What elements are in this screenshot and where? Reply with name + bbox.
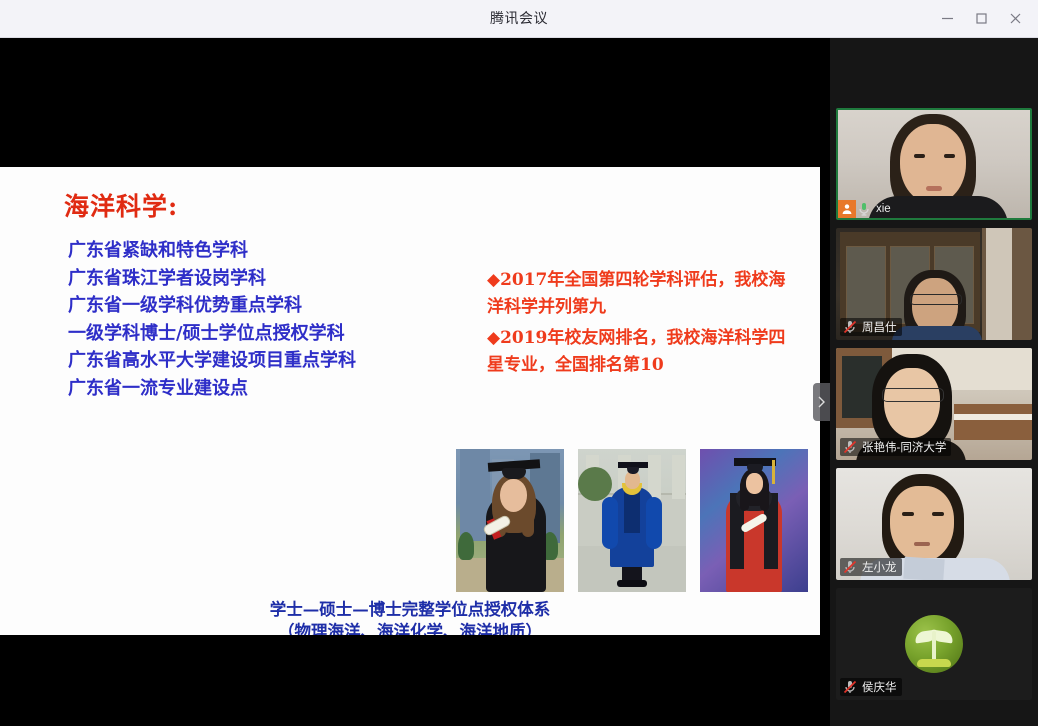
list-item: 广东省珠江学者设岗学科 — [68, 265, 438, 293]
participant-tile-zhouchangshi[interactable]: 周昌仕 — [836, 228, 1032, 340]
photo-caption: 学士—硕士—博士完整学位点授权体系 （物理海洋、海洋化学、海洋地质） — [0, 599, 820, 635]
mic-off-icon — [842, 439, 858, 455]
mic-off-icon — [842, 319, 858, 335]
graduation-photo-bachelor — [456, 449, 564, 592]
participant-name: 周昌仕 — [862, 319, 897, 335]
mic-off-icon — [842, 679, 858, 695]
graduation-photos — [456, 449, 808, 592]
participant-name: 张艳伟-同济大学 — [862, 439, 946, 455]
photo-caption-line-2: （物理海洋、海洋化学、海洋地质） — [0, 621, 820, 635]
minimize-icon[interactable] — [930, 0, 964, 37]
list-item: 广东省高水平大学建设项目重点学科 — [68, 347, 438, 375]
participant-tile-xie[interactable]: xie — [836, 108, 1032, 220]
participant-name: xie — [876, 203, 891, 215]
participant-label: xie — [838, 200, 896, 218]
person-icon — [838, 200, 856, 218]
meeting-window: 腾讯会议 海洋科学: 广东省紧缺和特色学科 广东省珠江学者设岗学科 广东省一级学… — [0, 0, 1038, 726]
participant-label: 周昌仕 — [840, 318, 902, 336]
window-controls — [930, 0, 1032, 37]
list-item: 广东省紧缺和特色学科 — [68, 237, 438, 265]
close-icon[interactable] — [998, 0, 1032, 37]
participant-tile-zuoxiaolong[interactable]: 左小龙 — [836, 468, 1032, 580]
participant-label: 侯庆华 — [840, 678, 902, 696]
participant-tile-zhangyanwei[interactable]: 张艳伟-同济大学 — [836, 348, 1032, 460]
participant-name: 侯庆华 — [862, 679, 897, 695]
participant-tile-houqinghua[interactable]: 侯庆华 — [836, 588, 1032, 700]
graduation-photo-doctor — [700, 449, 808, 592]
chevron-right-icon[interactable] — [813, 383, 830, 421]
slide-heading: 海洋科学: — [64, 187, 178, 223]
shared-screen-stage[interactable]: 海洋科学: 广东省紧缺和特色学科 广东省珠江学者设岗学科 广东省一级学科优势重点… — [0, 38, 830, 726]
app-title: 腾讯会议 — [0, 0, 1038, 37]
mic-off-icon — [842, 559, 858, 575]
highlight-note: ◆2019年校友网排名，我校海洋科学四星专业，全国排名第10 — [487, 325, 787, 379]
slide-bullet-list: 广东省紧缺和特色学科 广东省珠江学者设岗学科 广东省一级学科优势重点学科 一级学… — [68, 237, 438, 402]
highlight-note: ◆2017年全国第四轮学科评估，我校海洋科学并列第九 — [487, 267, 787, 321]
sprout-avatar — [905, 615, 963, 673]
participant-label: 张艳伟-同济大学 — [840, 438, 951, 456]
list-item: 广东省一流专业建设点 — [68, 375, 438, 403]
slide-highlight-notes: ◆2017年全国第四轮学科评估，我校海洋科学并列第九 ◆2019年校友网排名，我… — [487, 267, 787, 383]
presentation-slide: 海洋科学: 广东省紧缺和特色学科 广东省珠江学者设岗学科 广东省一级学科优势重点… — [0, 167, 820, 635]
graduation-photo-master — [578, 449, 686, 592]
participant-sidebar[interactable]: xie 周昌仕 — [830, 38, 1038, 726]
maximize-icon[interactable] — [964, 0, 998, 37]
photo-caption-line-1: 学士—硕士—博士完整学位点授权体系 — [270, 600, 551, 619]
list-item: 广东省一级学科优势重点学科 — [68, 292, 438, 320]
participant-label: 左小龙 — [840, 558, 902, 576]
list-item: 一级学科博士/硕士学位点授权学科 — [68, 320, 438, 348]
mic-on-icon — [856, 201, 872, 217]
participant-name: 左小龙 — [862, 559, 897, 575]
title-bar: 腾讯会议 — [0, 0, 1038, 38]
